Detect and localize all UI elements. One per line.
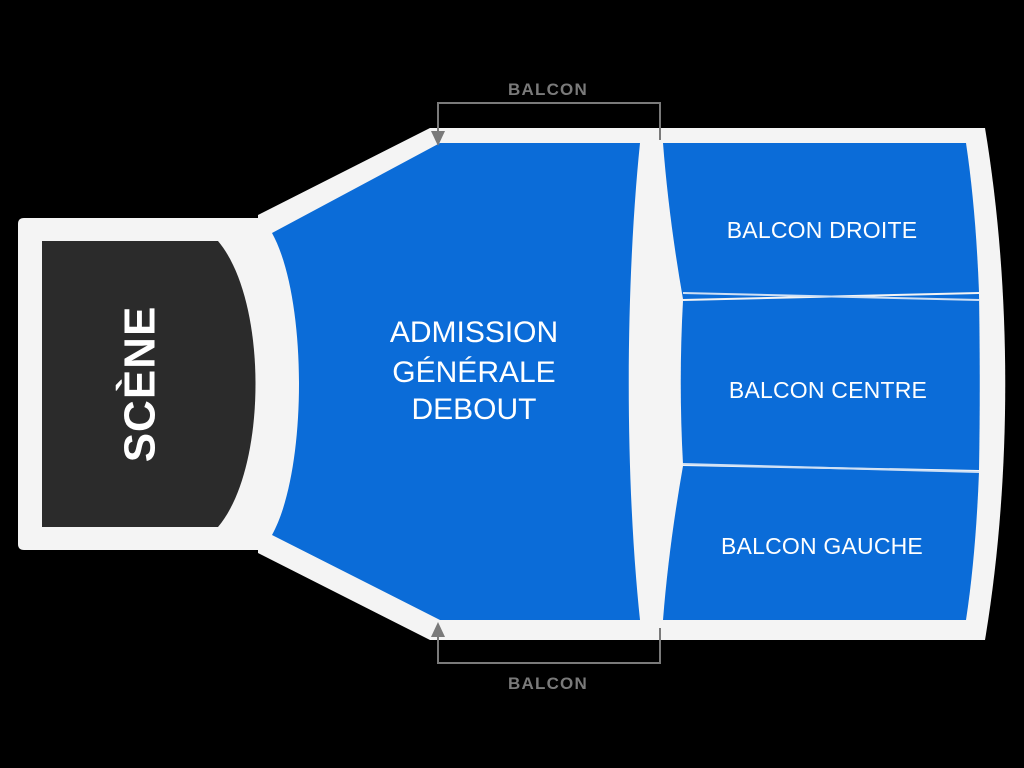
general-admission-label-line-1: ADMISSION — [390, 316, 558, 349]
stage-label: SCÈNE — [115, 306, 165, 463]
general-admission-label-line-3: DEBOUT — [411, 393, 536, 426]
dimension-balcon-bottom-label: BALCON — [508, 674, 588, 693]
venue-seating-map[interactable]: SCÈNE ADMISSION GÉNÉRALE DEBOUT BALCON D… — [0, 0, 1024, 768]
venue-map-canvas: SCÈNE ADMISSION GÉNÉRALE DEBOUT BALCON D… — [0, 0, 1024, 768]
balcon-centre-label: BALCON CENTRE — [729, 377, 927, 403]
balcon-gauche-label: BALCON GAUCHE — [721, 533, 923, 559]
stage-block[interactable]: SCÈNE — [42, 241, 256, 527]
general-admission-label-line-2: GÉNÉRALE — [392, 356, 555, 389]
balcon-droite-label: BALCON DROITE — [727, 217, 917, 243]
dimension-balcon-top-label: BALCON — [508, 80, 588, 99]
balcony-block[interactable]: BALCON DROITE BALCON CENTRE BALCON GAUCH… — [663, 143, 980, 620]
general-admission-section[interactable]: ADMISSION GÉNÉRALE DEBOUT — [272, 143, 640, 620]
